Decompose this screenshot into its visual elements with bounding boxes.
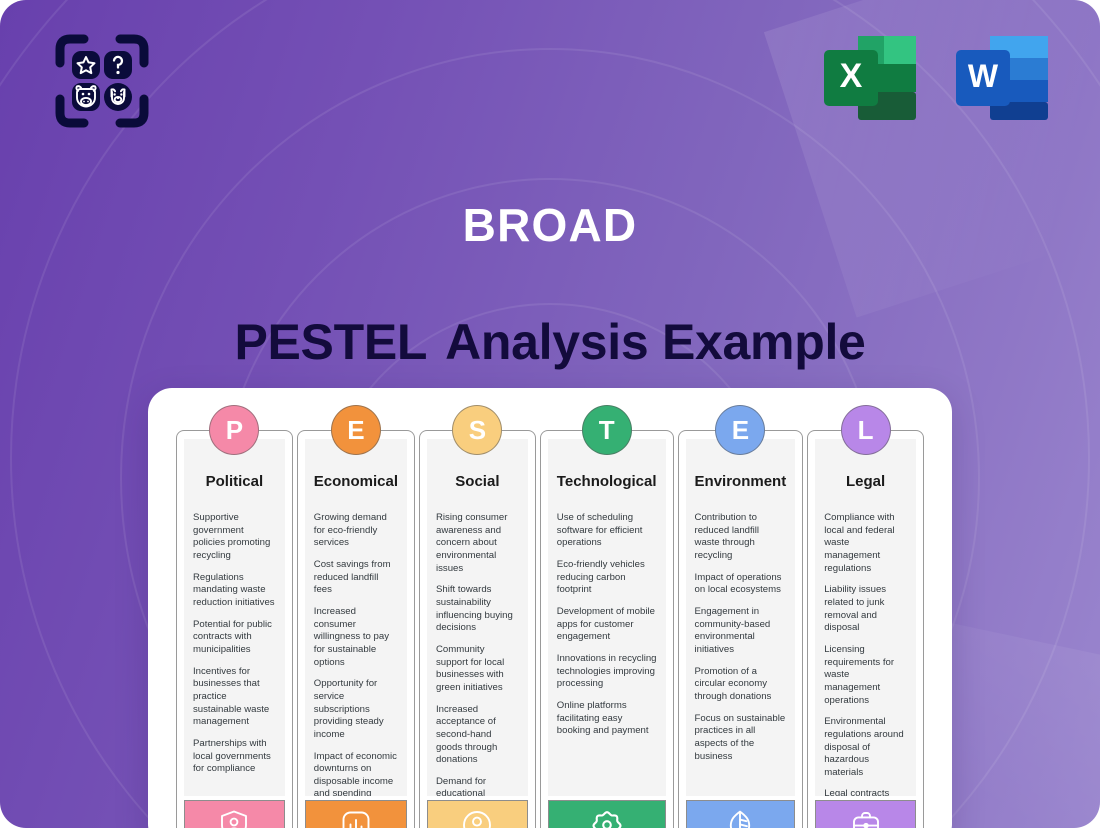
pestel-card: PPoliticalSupportive government policies… (148, 388, 952, 828)
list-item: Environmental regulations around disposa… (824, 716, 907, 779)
icon-bar-technological[interactable] (548, 800, 666, 828)
list-item: Increased consumer willingness to pay fo… (314, 606, 398, 669)
star-icon (72, 51, 100, 79)
list-item: Regulations mandating waste reduction in… (193, 572, 276, 610)
person-circle-icon (460, 808, 494, 828)
column-panel: TechnologicalUse of scheduling software … (548, 439, 666, 796)
icon-bar-social[interactable] (427, 800, 528, 828)
list-item: Opportunity for service subscriptions pr… (314, 678, 398, 741)
column-title: Environment (695, 473, 787, 490)
column-title: Social (436, 473, 519, 490)
letter-badge-e-1: E (331, 405, 381, 455)
list-item: Promotion of a circular economy through … (695, 666, 787, 704)
word-icon[interactable]: W (954, 32, 1050, 124)
list-item: Demand for educational resources on wast… (436, 776, 519, 796)
briefcase-icon (849, 808, 883, 828)
list-item: Potential for public contracts with muni… (193, 619, 276, 657)
column-bullet-list: Contribution to reduced landfill waste t… (695, 512, 787, 772)
column-bullet-list: Growing demand for eco-friendly services… (314, 512, 398, 796)
shield-person-icon (217, 808, 251, 828)
column-panel: EconomicalGrowing demand for eco-friendl… (305, 439, 407, 796)
excel-icon[interactable]: X (822, 32, 918, 124)
list-item: Compliance with local and federal waste … (824, 512, 907, 575)
list-item: Use of scheduling software for efficient… (557, 512, 657, 550)
column-title: Political (193, 473, 276, 490)
list-item: Innovations in recycling technologies im… (557, 653, 657, 691)
letter-badge-s-2: S (452, 405, 502, 455)
list-item: Supportive government policies promoting… (193, 512, 276, 563)
letter-badge-p-0: P (209, 405, 259, 455)
list-item: Incentives for businesses that practice … (193, 666, 276, 729)
list-item: Focus on sustainable practices in all as… (695, 713, 787, 764)
list-item: Liability issues related to junk removal… (824, 584, 907, 635)
list-item: Cost savings from reduced landfill fees (314, 559, 398, 597)
column-panel: EnvironmentContribution to reduced landf… (686, 439, 796, 796)
excel-letter: X (840, 57, 863, 95)
pestel-column-political: PPoliticalSupportive government policies… (176, 430, 293, 828)
column-panel: PoliticalSupportive government policies … (184, 439, 285, 796)
pestel-column-economical: EEconomicalGrowing demand for eco-friend… (297, 430, 415, 828)
list-item: Eco-friendly vehicles reducing carbon fo… (557, 559, 657, 597)
icon-bar-legal[interactable] (815, 800, 916, 828)
list-item: Development of mobile apps for customer … (557, 606, 657, 644)
list-item: Shift towards sustainability influencing… (436, 584, 519, 635)
leaf-icon (723, 808, 757, 828)
column-panel: SocialRising consumer awareness and conc… (427, 439, 528, 796)
list-item: Partnerships with local governments for … (193, 738, 276, 776)
list-item: Community support for local businesses w… (436, 644, 519, 695)
pestel-column-technological: TTechnologicalUse of scheduling software… (540, 430, 674, 828)
column-title: Technological (557, 473, 657, 490)
poster-page: X W BROAD PESTELAnalysis Example PPoliti… (0, 0, 1100, 828)
letter-badge-e-4: E (715, 405, 765, 455)
list-item: Increased acceptance of second-hand good… (436, 704, 519, 767)
pestel-column-environment: EEnvironmentContribution to reduced land… (678, 430, 804, 828)
pestel-column-legal: LLegalCompliance with local and federal … (807, 430, 924, 828)
list-item: Impact of operations on local ecosystems (695, 572, 787, 597)
icon-bar-political[interactable] (184, 800, 285, 828)
list-item: Impact of economic downturns on disposab… (314, 751, 398, 797)
list-item: Rising consumer awareness and concern ab… (436, 512, 519, 575)
icon-bar-economical[interactable] (305, 800, 407, 828)
list-item: Contribution to reduced landfill waste t… (695, 512, 787, 563)
column-bullet-list: Supportive government policies promoting… (193, 512, 276, 785)
column-bullet-list: Rising consumer awareness and concern ab… (436, 512, 519, 796)
broad-logo-icon (50, 29, 154, 133)
list-item: Legal contracts with recycling centers a… (824, 788, 907, 796)
column-panel: LegalCompliance with local and federal w… (815, 439, 916, 796)
column-title: Economical (314, 473, 398, 490)
page-title-primary: PESTEL (234, 314, 427, 370)
gear-icon (590, 808, 624, 828)
list-item: Engagement in community-based environmen… (695, 606, 787, 657)
bar-chart-icon (339, 808, 373, 828)
word-letter: W (968, 58, 999, 94)
list-item: Growing demand for eco-friendly services (314, 512, 398, 550)
pestel-column-social: SSocialRising consumer awareness and con… (419, 430, 536, 828)
page-title-secondary: Analysis Example (445, 314, 865, 370)
letter-badge-l-5: L (841, 405, 891, 455)
page-title: PESTELAnalysis Example (0, 313, 1100, 371)
column-bullet-list: Compliance with local and federal waste … (824, 512, 907, 796)
letter-badge-t-3: T (582, 405, 632, 455)
pestel-columns: PPoliticalSupportive government policies… (176, 430, 924, 828)
kicker-heading: BROAD (0, 198, 1100, 252)
column-bullet-list: Use of scheduling software for efficient… (557, 512, 657, 747)
column-title: Legal (824, 473, 907, 490)
list-item: Online platforms facilitating easy booki… (557, 700, 657, 738)
list-item: Licensing requirements for waste managem… (824, 644, 907, 707)
icon-bar-environment[interactable] (686, 800, 796, 828)
